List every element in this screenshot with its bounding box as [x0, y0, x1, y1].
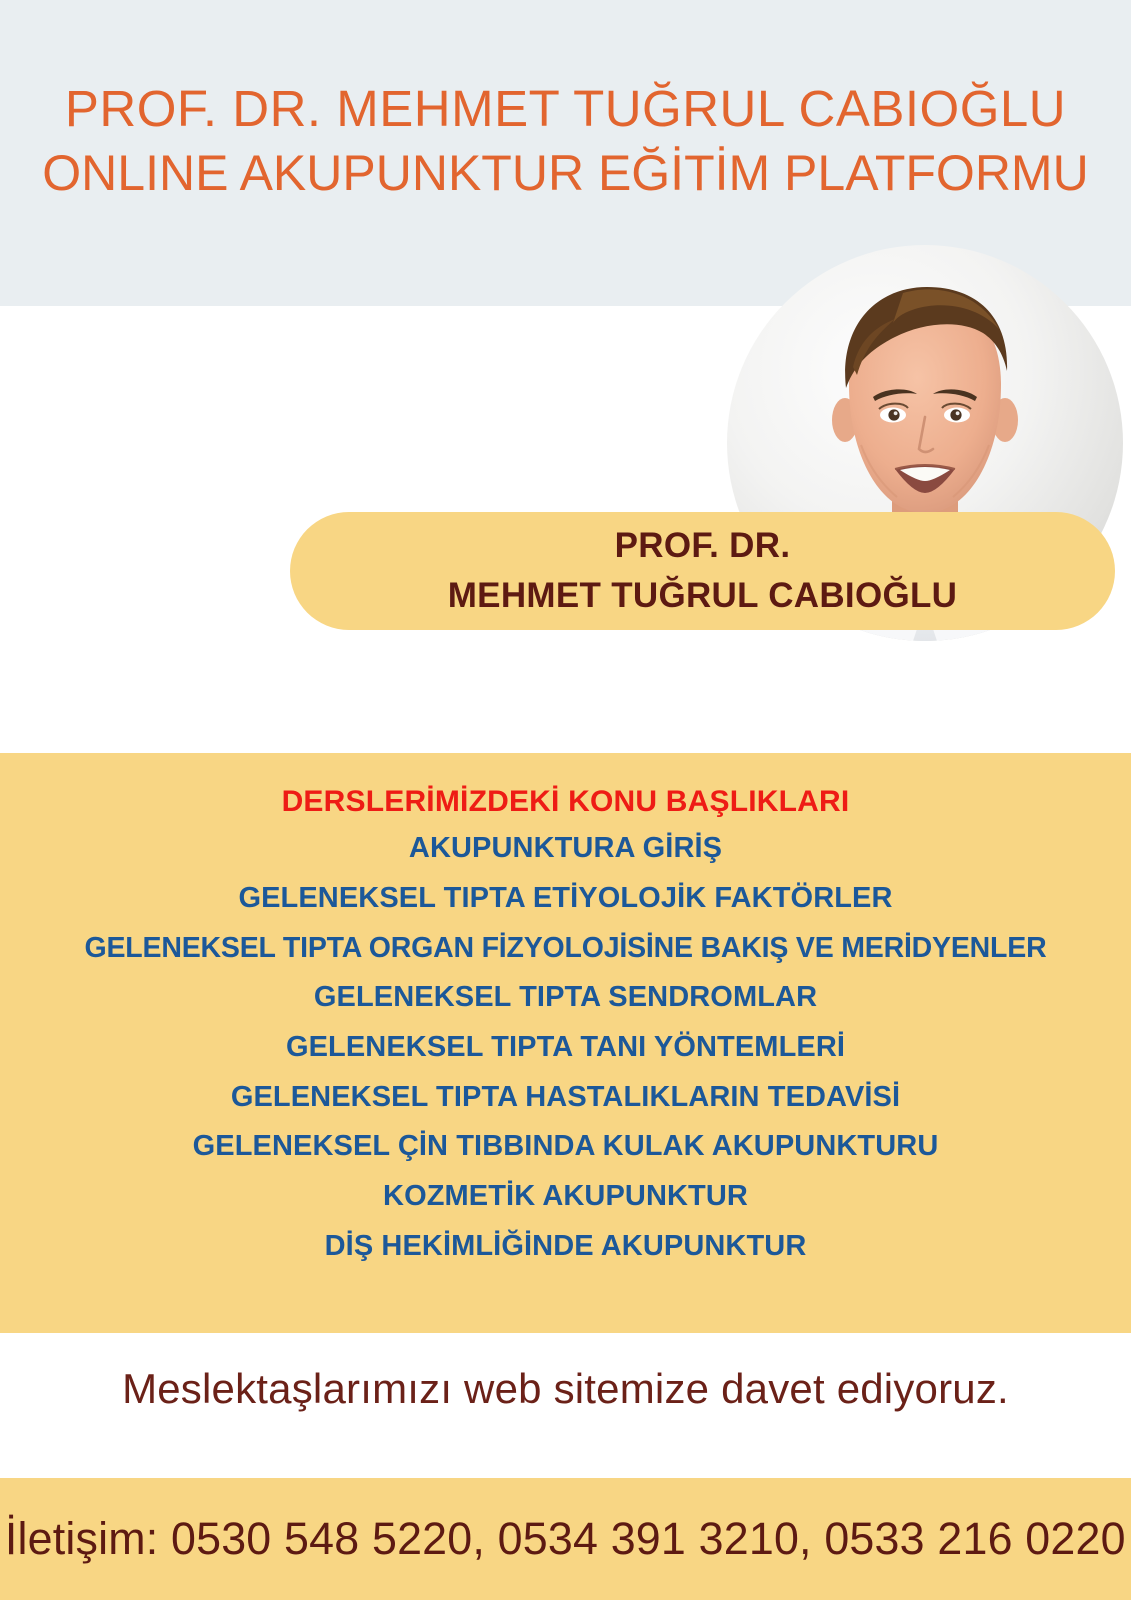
page-title: PROF. DR. MEHMET TUĞRUL CABIOĞLU ONLINE … [0, 76, 1131, 205]
list-item: GELENEKSEL TIPTA ETİYOLOJİK FAKTÖRLER [0, 874, 1131, 924]
page-title-line-2: ONLINE AKUPUNKTUR EĞİTİM PLATFORMU [0, 141, 1131, 205]
topics-list: AKUPUNKTURA GİRİŞ GELENEKSEL TIPTA ETİYO… [0, 824, 1131, 1272]
list-item: KOZMETİK AKUPUNKTUR [0, 1172, 1131, 1222]
name-badge-text: PROF. DR. MEHMET TUĞRUL CABIOĞLU [448, 521, 958, 620]
contact-band: İletişim: 0530 548 5220, 0534 391 3210, … [0, 1478, 1131, 1600]
poster-root: PROF. DR. MEHMET TUĞRUL CABIOĞLU ONLINE … [0, 0, 1131, 1600]
contact-text: İletişim: 0530 548 5220, 0534 391 3210, … [5, 1513, 1126, 1565]
list-item: DİŞ HEKİMLİĞİNDE AKUPUNKTUR [0, 1222, 1131, 1272]
list-item: GELENEKSEL TIPTA TANI YÖNTEMLERİ [0, 1023, 1131, 1073]
topics-panel: DERSLERİMİZDEKİ KONU BAŞLIKLARI AKUPUNKT… [0, 753, 1131, 1333]
list-item: GELENEKSEL TIPTA ORGAN FİZYOLOJİSİNE BAK… [0, 924, 1131, 973]
name-badge-line-1: PROF. DR. [448, 521, 958, 571]
invitation-text: Meslektaşlarımızı web sitemize davet edi… [0, 1365, 1131, 1413]
list-item: AKUPUNKTURA GİRİŞ [0, 824, 1131, 874]
list-item: GELENEKSEL ÇİN TIBBINDA KULAK AKUPUNKTUR… [0, 1122, 1131, 1172]
list-item: GELENEKSEL TIPTA HASTALIKLARIN TEDAVİSİ [0, 1073, 1131, 1123]
topics-title: DERSLERİMİZDEKİ KONU BAŞLIKLARI [0, 779, 1131, 824]
name-badge: PROF. DR. MEHMET TUĞRUL CABIOĞLU [290, 512, 1115, 630]
name-badge-line-2: MEHMET TUĞRUL CABIOĞLU [448, 571, 958, 621]
page-title-line-1: PROF. DR. MEHMET TUĞRUL CABIOĞLU [0, 76, 1131, 141]
list-item: GELENEKSEL TIPTA SENDROMLAR [0, 973, 1131, 1023]
